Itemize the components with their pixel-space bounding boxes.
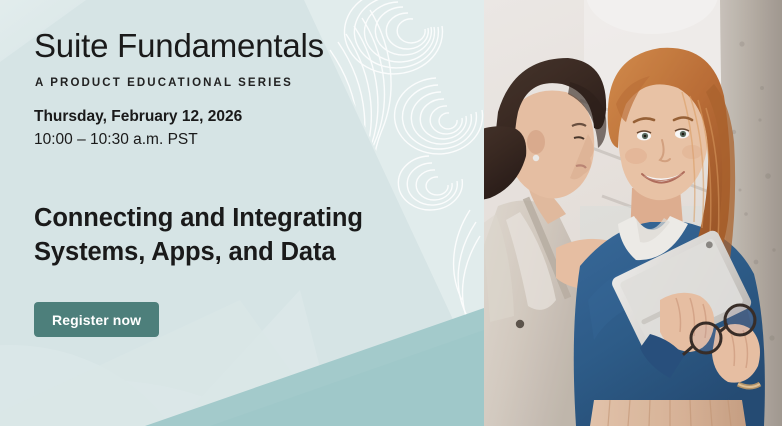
session-headline-line-1: Connecting and Integrating bbox=[34, 202, 434, 236]
webinar-promo-banner: Suite Fundamentals A PRODUCT EDUCATIONAL… bbox=[0, 0, 782, 426]
text-content-group: Suite Fundamentals A PRODUCT EDUCATIONAL… bbox=[34, 0, 454, 426]
page-title: Suite Fundamentals bbox=[34, 28, 324, 64]
register-now-button[interactable]: Register now bbox=[34, 302, 159, 337]
left-content-panel: Suite Fundamentals A PRODUCT EDUCATIONAL… bbox=[0, 0, 484, 426]
session-headline: Connecting and Integrating Systems, Apps… bbox=[34, 202, 434, 269]
series-eyebrow-label: A PRODUCT EDUCATIONAL SERIES bbox=[35, 77, 293, 89]
event-time: 10:00 – 10:30 a.m. PST bbox=[34, 131, 198, 149]
hero-photo bbox=[484, 0, 782, 426]
event-date: Thursday, February 12, 2026 bbox=[34, 108, 242, 126]
hero-photo-illustration bbox=[484, 0, 782, 426]
session-headline-line-2: Systems, Apps, and Data bbox=[34, 236, 434, 270]
